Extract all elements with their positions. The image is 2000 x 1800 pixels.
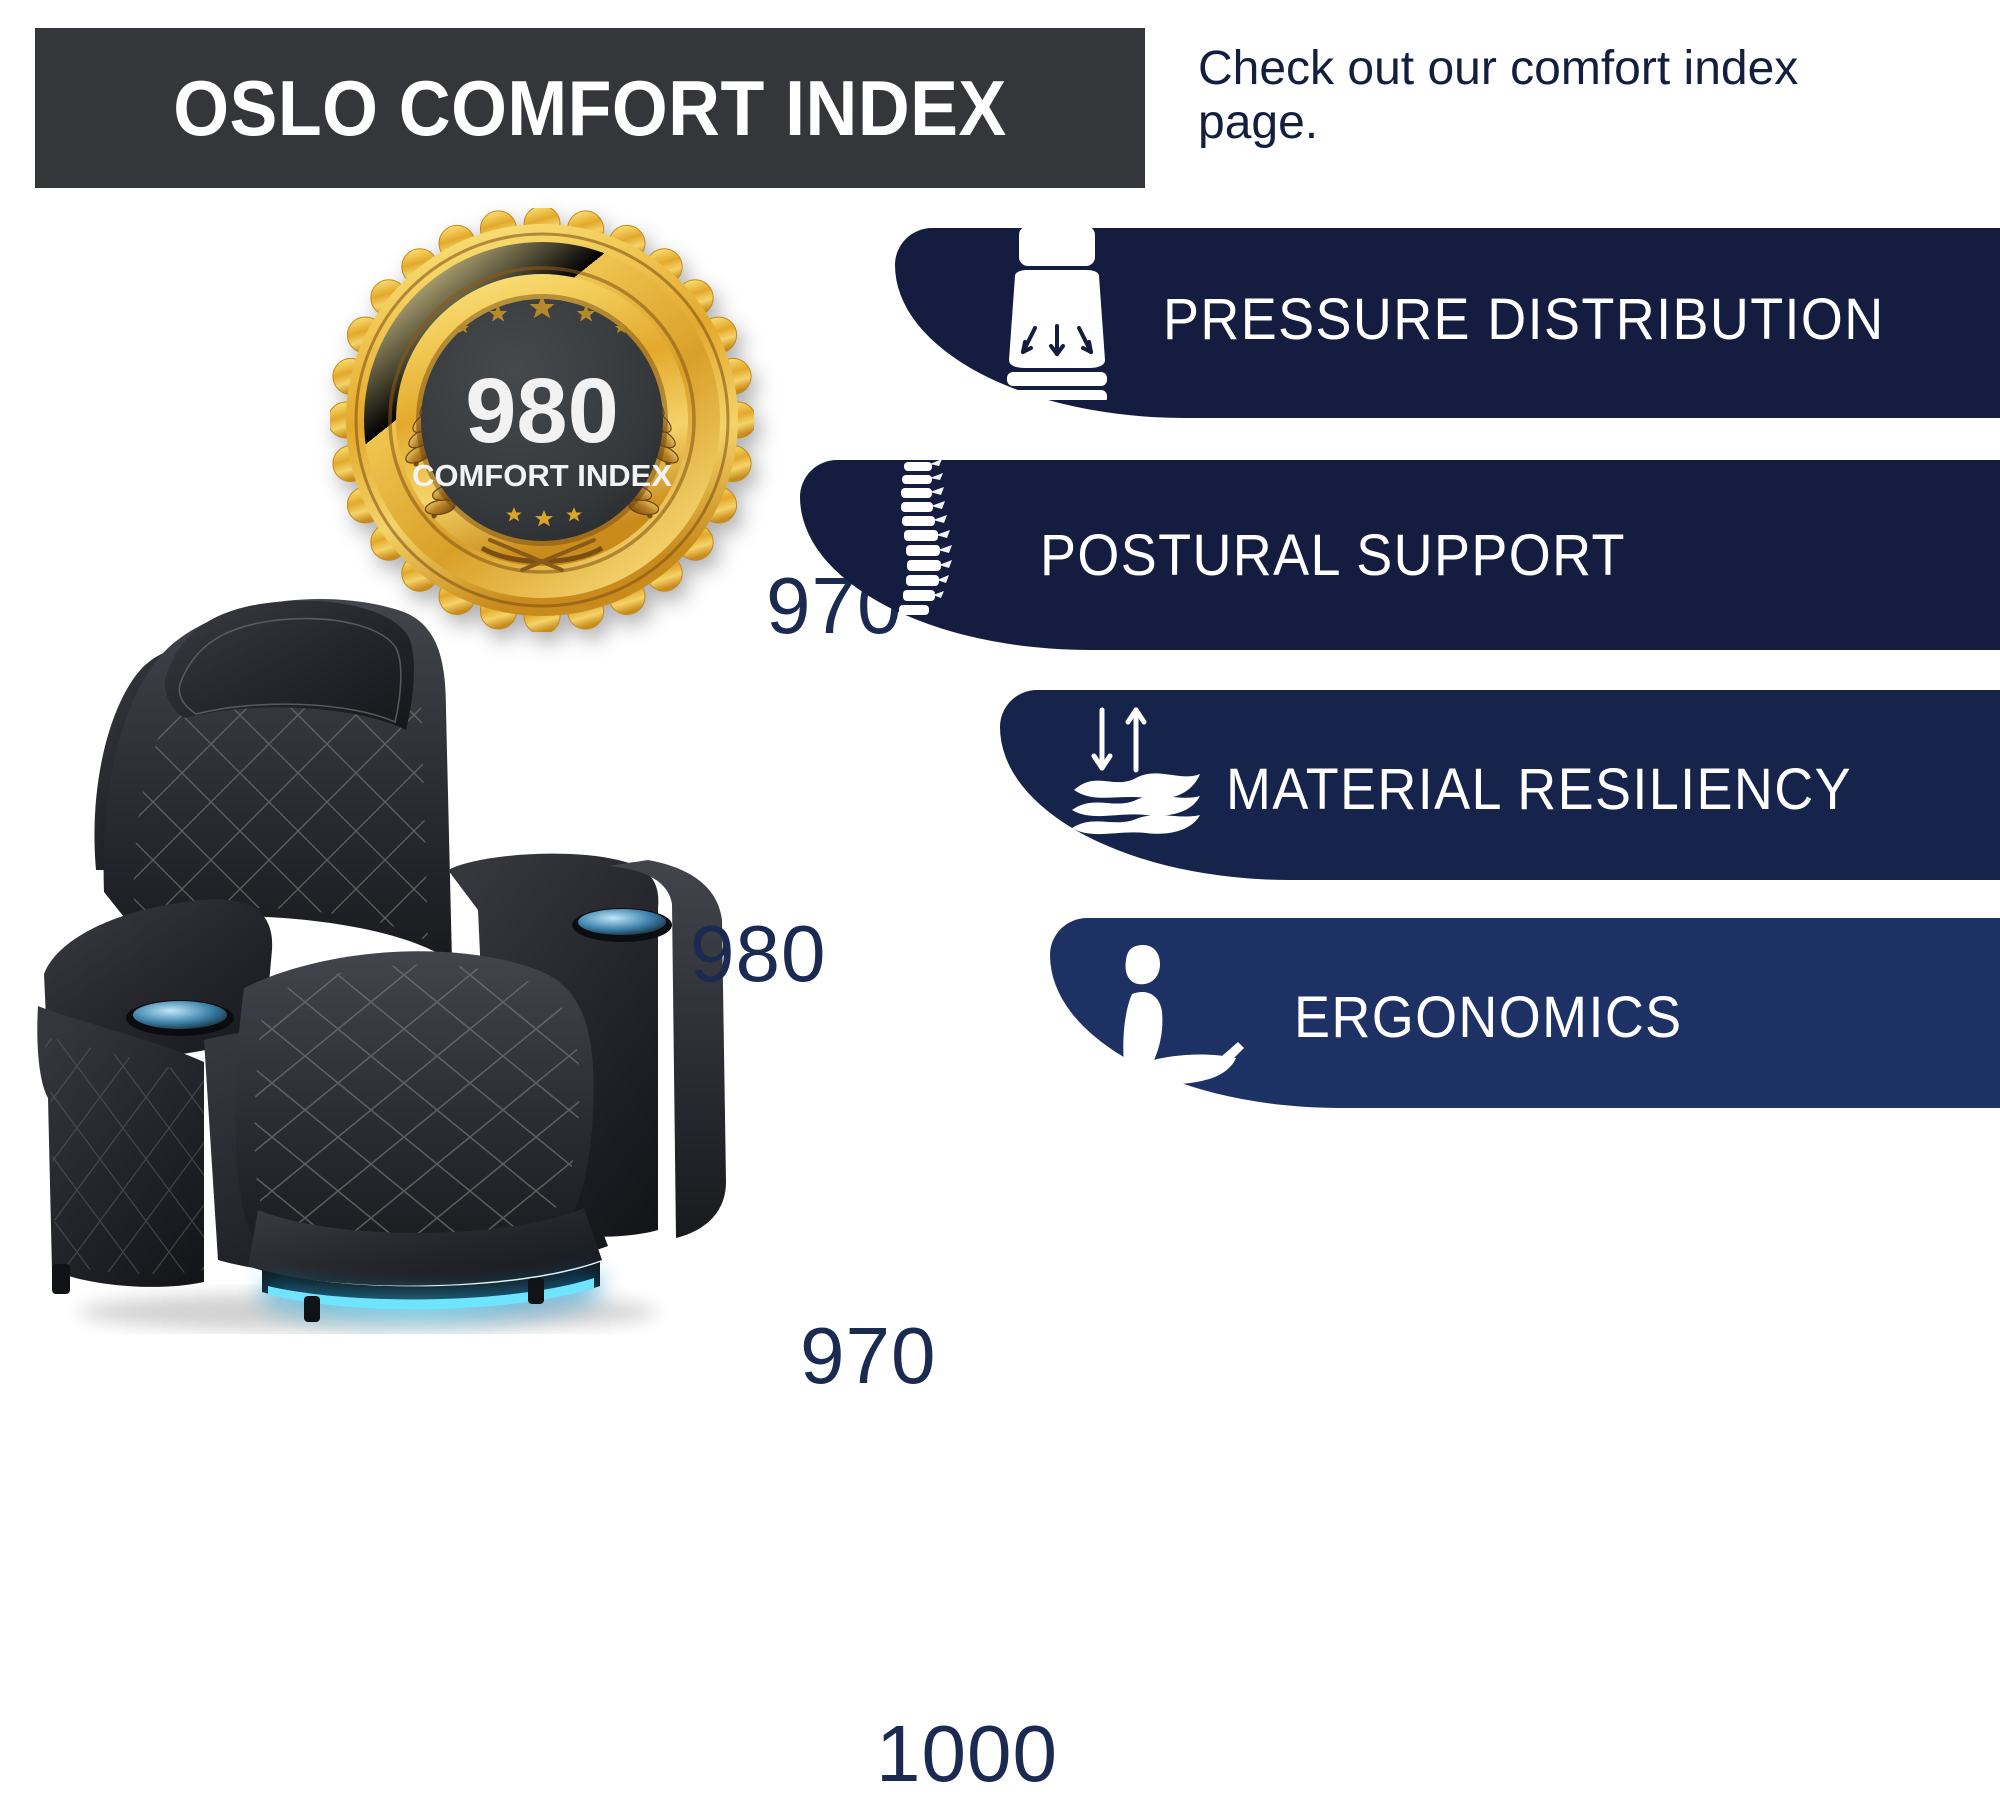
metric-label-ergonomic: ERGONOMICS [1294,984,1683,1051]
cushion-compression-icon [987,228,1127,400]
metric-row-material: MATERIAL RESILIENCY 970 [0,690,2000,880]
layered-foam-rebound-icon [1052,698,1222,848]
metric-row-pressure: PRESSURE DISTRIBUTION 970 [0,228,2000,418]
metric-row-ergonomic: ERGONOMICS 1000 [0,918,2000,1108]
metric-bar-material[interactable]: MATERIAL RESILIENCY [1000,690,2000,880]
metric-label-material: MATERIAL RESILIENCY [1226,756,1852,823]
page-title: OSLO COMFORT INDEX [173,63,1007,154]
ergonomic-seat-icon [1102,938,1252,1098]
subtitle-text: Check out our comfort index page. [1198,42,1918,150]
metric-label-postural: POSTURAL SUPPORT [1040,522,1626,589]
title-banner: OSLO COMFORT INDEX [35,28,1145,188]
metric-row-postural: POSTURAL SUPPORT 980 [0,460,2000,650]
metric-bar-pressure[interactable]: PRESSURE DISTRIBUTION [895,228,2000,418]
metric-score-material: 970 [800,1310,936,1402]
spine-icon [860,460,980,646]
metric-score-ergonomic: 1000 [876,1708,1058,1800]
metric-bar-postural[interactable]: POSTURAL SUPPORT [800,460,2000,650]
metric-bar-ergonomic[interactable]: ERGONOMICS [1050,918,2000,1108]
metric-label-pressure: PRESSURE DISTRIBUTION [1163,286,1885,353]
